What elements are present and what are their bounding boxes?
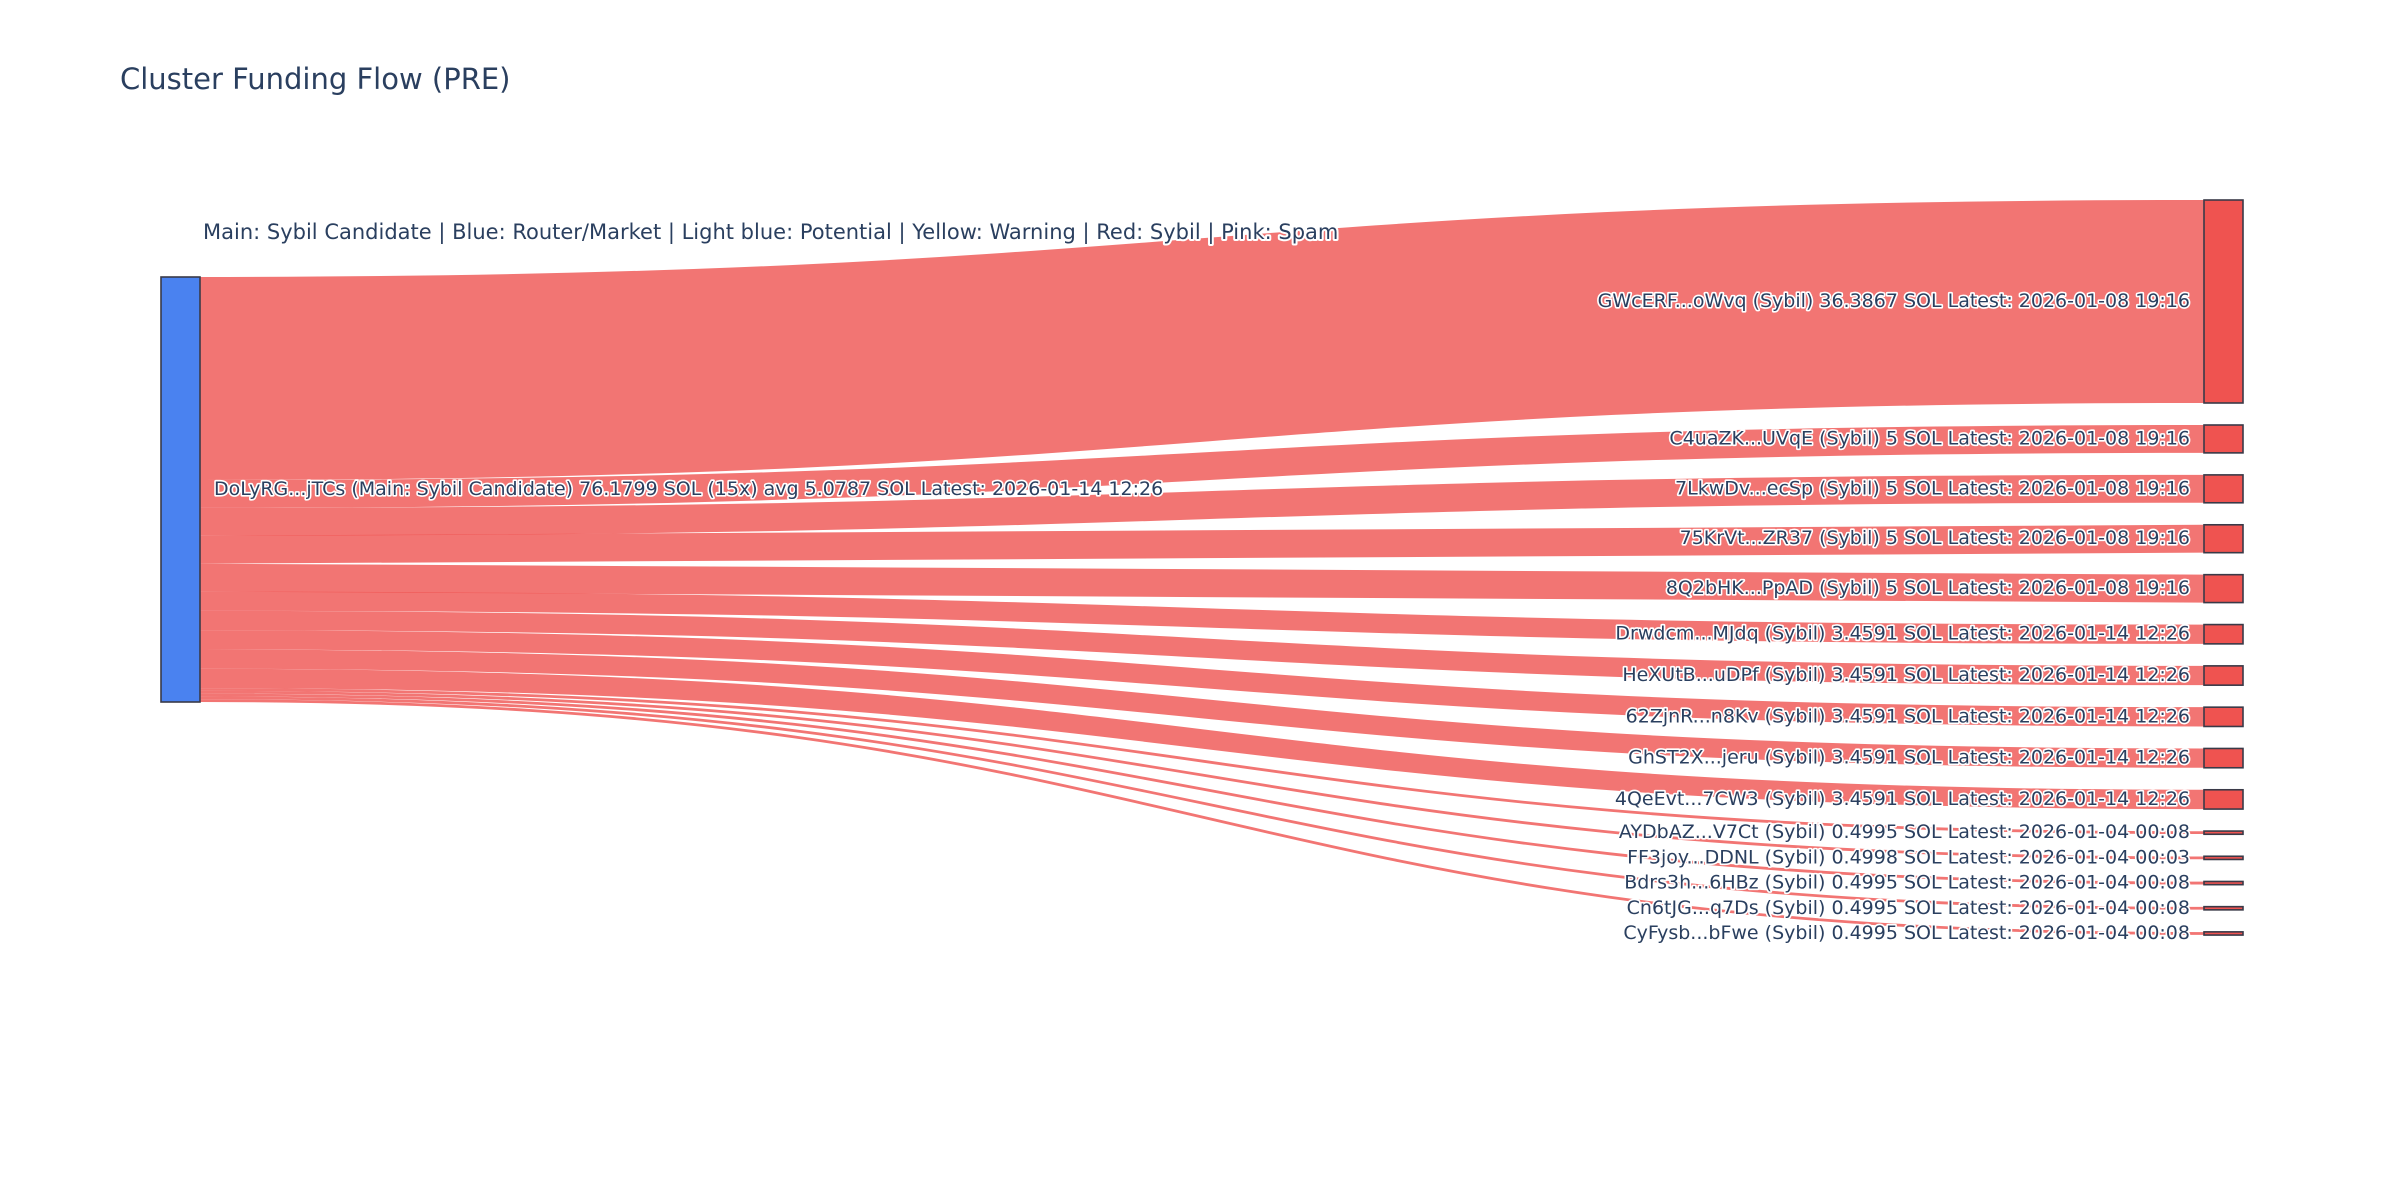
sankey-chart-root: Cluster Funding Flow (PRE) DoLyRG...jTCs… xyxy=(0,0,2400,1200)
sankey-target-node[interactable] xyxy=(2204,707,2243,726)
sankey-target-node-label: 4QeEvt...7CW3 (Sybil) 3.4591 SOL Latest:… xyxy=(1615,788,2190,810)
sankey-target-node-label: Cn6tJG...q7Ds (Sybil) 0.4995 SOL Latest:… xyxy=(1627,897,2190,919)
sankey-target-node[interactable] xyxy=(2204,856,2243,859)
sankey-target-node-label: AYDbAZ...V7Ct (Sybil) 0.4995 SOL Latest:… xyxy=(1619,821,2190,843)
sankey-target-node-label: 62ZjnR...n8Kv (Sybil) 3.4591 SOL Latest:… xyxy=(1626,705,2190,727)
sankey-target-node[interactable] xyxy=(2204,666,2243,685)
sankey-target-node[interactable] xyxy=(2204,831,2243,834)
sankey-target-node[interactable] xyxy=(2204,625,2243,644)
sankey-target-node-label: CyFysb...bFwe (Sybil) 0.4995 SOL Latest:… xyxy=(1623,922,2190,944)
sankey-legend-layer: Main: Sybil Candidate | Blue: Router/Mar… xyxy=(203,220,1338,245)
sankey-target-node-label: FF3joy...DDNL (Sybil) 0.4998 SOL Latest:… xyxy=(1627,846,2190,868)
sankey-target-node-label: Bdrs3h...6HBz (Sybil) 0.4995 SOL Latest:… xyxy=(1624,872,2190,894)
sankey-target-node[interactable] xyxy=(2204,575,2243,603)
sankey-target-node-label: GhST2X...jeru (Sybil) 3.4591 SOL Latest:… xyxy=(1628,747,2190,769)
sankey-target-node-label: 8Q2bHK...PpAD (Sybil) 5 SOL Latest: 2026… xyxy=(1666,577,2190,599)
sankey-target-node-label: 75KrVt...ZR37 (Sybil) 5 SOL Latest: 2026… xyxy=(1680,527,2190,549)
sankey-target-node-label: C4uaZK...UVqE (Sybil) 5 SOL Latest: 2026… xyxy=(1669,427,2190,449)
sankey-target-node-label: GWcERF...oWvq (Sybil) 36.3867 SOL Latest… xyxy=(1598,290,2190,312)
legend-label: Main: Sybil Candidate | Blue: Router/Mar… xyxy=(203,220,1338,245)
sankey-link[interactable] xyxy=(200,678,2204,799)
sankey-source-node[interactable] xyxy=(161,277,200,702)
sankey-target-node[interactable] xyxy=(2204,475,2243,503)
sankey-target-node-label: Drwdcm...MJdq (Sybil) 3.4591 SOL Latest:… xyxy=(1615,623,2190,645)
sankey-link[interactable] xyxy=(200,301,2204,378)
sankey-target-node[interactable] xyxy=(2204,790,2243,809)
sankey-target-node[interactable] xyxy=(2204,932,2243,935)
sankey-diagram: DoLyRG...jTCs (Main: Sybil Candidate) 76… xyxy=(0,0,2400,1200)
sankey-target-node[interactable] xyxy=(2204,200,2243,403)
sankey-target-node[interactable] xyxy=(2204,525,2243,553)
sankey-target-node[interactable] xyxy=(2204,881,2243,884)
sankey-target-node[interactable] xyxy=(2204,425,2243,453)
sankey-target-node[interactable] xyxy=(2204,748,2243,767)
sankey-target-node[interactable] xyxy=(2204,907,2243,910)
sankey-target-node-label: 7LkwDv...ecSp (Sybil) 5 SOL Latest: 2026… xyxy=(1675,477,2190,499)
sankey-source-node-label: DoLyRG...jTCs (Main: Sybil Candidate) 76… xyxy=(214,478,1163,500)
sankey-target-node-label: HeXUtB...uDPf (Sybil) 3.4591 SOL Latest:… xyxy=(1622,664,2190,686)
